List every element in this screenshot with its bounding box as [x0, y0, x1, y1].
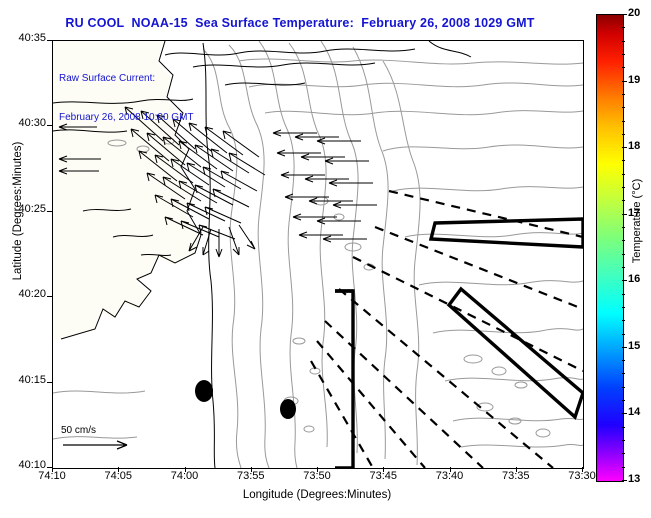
y-tick-mark: [47, 211, 52, 212]
x-tick-label: 73:30: [552, 470, 612, 482]
survey-boxes: [335, 219, 583, 468]
x-tick-label: 73:45: [353, 470, 413, 482]
colorbar-minor-tick: [622, 200, 625, 201]
y-tick-label: 40:25: [2, 203, 46, 215]
colorbar-tick-mark: [622, 413, 627, 414]
scale-bar-label: 50 cm/s: [61, 425, 151, 436]
y-tick-mark: [47, 467, 52, 468]
x-axis-label: Longitude (Degrees:Minutes): [52, 489, 582, 501]
colorbar-tick-label: 19: [628, 74, 640, 86]
y-tick-mark: [47, 296, 52, 297]
colorbar-tick-mark: [622, 280, 627, 281]
colorbar-minor-tick: [622, 360, 625, 361]
x-tick-label: 74:05: [88, 470, 148, 482]
colorbar-minor-tick: [622, 67, 625, 68]
scale-bar-legend: 50 cm/s: [61, 425, 151, 452]
x-tick-label: 74:10: [22, 470, 82, 482]
colorbar-tick-label: 20: [628, 7, 640, 19]
x-tick-label: 73:40: [420, 470, 480, 482]
colorbar-minor-tick: [622, 41, 625, 42]
colorbar-minor-tick: [622, 334, 625, 335]
colorbar-minor-tick: [622, 107, 625, 108]
colorbar-minor-tick: [622, 387, 625, 388]
colorbar-minor-tick: [622, 94, 625, 95]
colorbar-minor-tick: [622, 267, 625, 268]
figure-title: RU COOL NOAA-15 Sea Surface Temperature:…: [0, 16, 600, 30]
colorbar-minor-tick: [622, 160, 625, 161]
colorbar-tick-mark: [622, 347, 627, 348]
colorbar-minor-tick: [622, 121, 625, 122]
colorbar-minor-tick: [622, 427, 625, 428]
colorbar-minor-tick: [622, 254, 625, 255]
y-tick-label: 40:20: [2, 288, 46, 300]
colorbar-tick-mark: [622, 214, 627, 215]
colorbar-minor-tick: [622, 400, 625, 401]
colorbar-minor-tick: [622, 453, 625, 454]
colorbar-minor-tick: [622, 174, 625, 175]
y-tick-label: 40:30: [2, 117, 46, 129]
y-tick-label: 40:10: [2, 459, 46, 471]
y-tick-label: 40:35: [2, 32, 46, 44]
x-tick-label: 73:55: [221, 470, 281, 482]
x-tick-label: 74:00: [155, 470, 215, 482]
colorbar-minor-tick: [622, 187, 625, 188]
map-plot-area[interactable]: Raw Surface Current: February 26, 2008 1…: [52, 40, 584, 469]
scale-bar-arrow-icon: [61, 438, 141, 452]
sst-map-figure: RU COOL NOAA-15 Sea Surface Temperature:…: [0, 0, 651, 518]
colorbar-minor-tick: [622, 134, 625, 135]
colorbar-tick-mark: [622, 81, 627, 82]
colorbar-minor-tick: [622, 227, 625, 228]
y-tick-mark: [47, 125, 52, 126]
colorbar-tick-label: 14: [628, 406, 640, 418]
colorbar-tick-mark: [622, 147, 627, 148]
colorbar-minor-tick: [622, 54, 625, 55]
station-markers: [195, 380, 296, 419]
colorbar-minor-tick: [622, 440, 625, 441]
colorbar-tick-label: 13: [628, 473, 640, 485]
y-tick-mark: [47, 40, 52, 41]
land-polygon: [53, 41, 199, 341]
x-tick-label: 73:35: [486, 470, 546, 482]
colorbar-label: Temperature (°C): [631, 141, 643, 301]
colorbar-minor-tick: [622, 294, 625, 295]
colorbar-tick-mark: [622, 480, 627, 481]
colorbar-minor-tick: [622, 467, 625, 468]
colorbar-minor-tick: [622, 307, 625, 308]
y-tick-label: 40:15: [2, 374, 46, 386]
colorbar-gradient: [597, 15, 623, 481]
colorbar-minor-tick: [622, 373, 625, 374]
colorbar[interactable]: [596, 14, 624, 482]
x-tick-label: 73:50: [287, 470, 347, 482]
map-graphics: [53, 41, 583, 468]
colorbar-tick-label: 15: [628, 340, 640, 352]
y-tick-mark: [47, 382, 52, 383]
colorbar-tick-mark: [622, 14, 627, 15]
colorbar-minor-tick: [622, 240, 625, 241]
colorbar-minor-tick: [622, 27, 625, 28]
colorbar-minor-tick: [622, 320, 625, 321]
